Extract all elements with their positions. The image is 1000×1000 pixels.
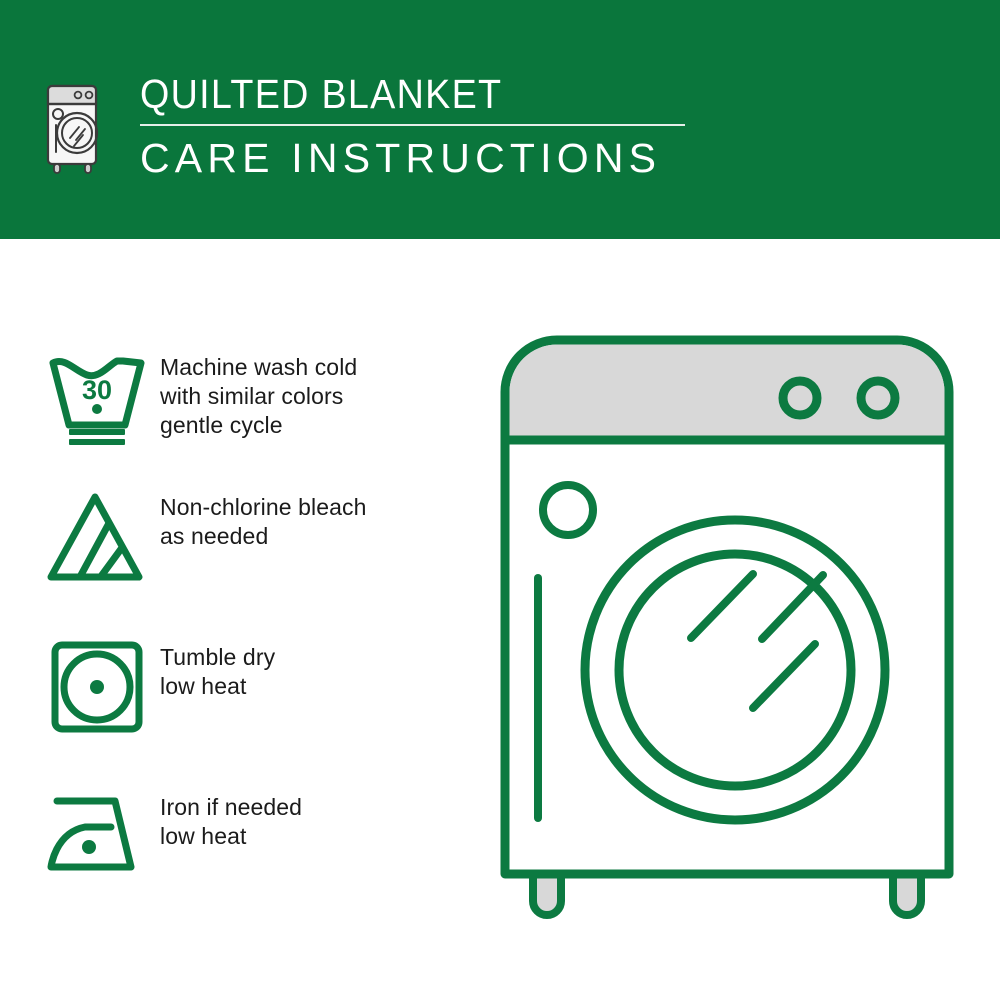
header-banner: QUILTED BLANKET CARE INSTRUCTIONS: [0, 0, 1000, 239]
care-text-bleach: Non-chlorine bleach as needed: [160, 489, 475, 551]
care-row-tumble-dry: Tumble dry low heat: [45, 639, 475, 735]
care-text-line: Non-chlorine bleach: [160, 493, 475, 522]
care-row-bleach: Non-chlorine bleach as needed: [45, 489, 475, 585]
care-row-iron: Iron if needed low heat: [45, 789, 475, 875]
care-text-machine-wash: Machine wash cold with similar colors ge…: [160, 349, 475, 440]
care-text-iron: Iron if needed low heat: [160, 789, 475, 851]
machine-leg-right: [893, 873, 921, 915]
wash-basin-30-gentle-icon: 30: [45, 349, 160, 447]
care-instruction-list: 30 Machine wash cold with similar colors…: [0, 239, 480, 1000]
wash-temperature-label: 30: [82, 375, 112, 405]
care-text-line: gentle cycle: [160, 411, 475, 440]
care-text-line: Tumble dry: [160, 643, 475, 672]
machine-control-panel: [510, 345, 945, 441]
non-chlorine-bleach-triangle-icon: [45, 489, 160, 585]
header-title-block: QUILTED BLANKET CARE INSTRUCTIONS: [140, 70, 700, 185]
page-title-secondary: CARE INSTRUCTIONS: [140, 134, 700, 182]
care-text-line: low heat: [160, 672, 475, 701]
iron-low-heat-icon: [45, 789, 160, 875]
front-load-washing-machine-illustration: [495, 330, 980, 940]
care-text-line: Iron if needed: [160, 793, 475, 822]
care-row-machine-wash: 30 Machine wash cold with similar colors…: [45, 349, 475, 447]
care-text-tumble-dry: Tumble dry low heat: [160, 639, 475, 701]
care-text-line: Machine wash cold: [160, 353, 475, 382]
tumble-dry-low-heat-icon: [45, 639, 160, 735]
page-title-primary: QUILTED BLANKET: [140, 70, 655, 118]
care-text-line: low heat: [160, 822, 475, 851]
machine-leg-left: [533, 873, 561, 915]
care-text-line: with similar colors: [160, 382, 475, 411]
care-instructions-page: QUILTED BLANKET CARE INSTRUCTIONS 30: [0, 0, 1000, 1000]
title-divider: [140, 124, 685, 126]
washing-machine-logo-icon: [44, 72, 106, 176]
care-text-line: as needed: [160, 522, 475, 551]
